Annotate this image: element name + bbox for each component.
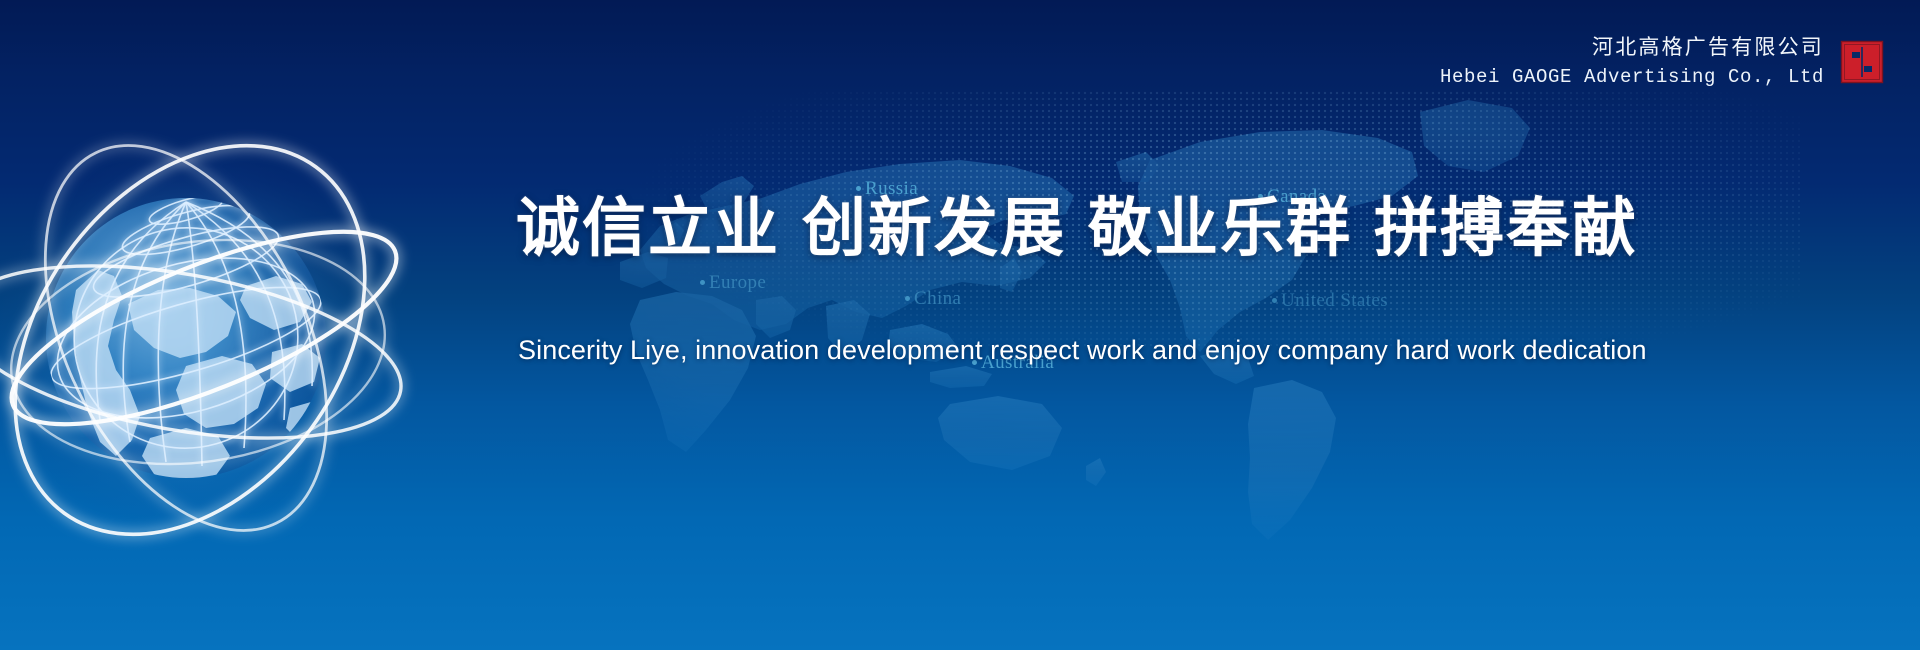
world-map-background [0, 0, 1920, 650]
map-label-text: United States [1281, 290, 1388, 311]
company-logo-icon[interactable] [1840, 40, 1884, 84]
map-label-europe: Europe [700, 272, 766, 294]
slogan-part-3: 敬业乐群 [1088, 192, 1352, 264]
company-banner: Russia Europe China Canada United States… [0, 0, 1920, 650]
map-marker-dot [1272, 298, 1277, 303]
map-label-china: China [905, 288, 961, 310]
company-identity: 河北高格广告有限公司 Hebei GAOGE Advertising Co., … [1440, 34, 1884, 90]
map-label-text: Europe [709, 272, 766, 293]
map-label-united-states: United States [1272, 290, 1388, 312]
company-name-group: 河北高格广告有限公司 Hebei GAOGE Advertising Co., … [1440, 34, 1824, 90]
company-name-chinese: 河北高格广告有限公司 [1440, 34, 1824, 62]
slogan-part-1: 诚信立业 [516, 192, 780, 264]
slogan-part-4: 拼搏奉献 [1374, 192, 1638, 264]
orbiting-globe-icon [0, 90, 470, 560]
company-name-english: Hebei GAOGE Advertising Co., Ltd [1440, 65, 1824, 90]
slogan-english: Sincerity Liye, innovation development r… [518, 335, 1647, 366]
slogan-part-2: 创新发展 [802, 192, 1066, 264]
slogan-chinese: 诚信立业创新发展敬业乐群拼搏奉献 [516, 196, 1638, 260]
map-label-text: China [914, 288, 961, 309]
map-marker-dot [905, 296, 910, 301]
map-marker-dot [856, 186, 861, 191]
map-marker-dot [700, 280, 705, 285]
